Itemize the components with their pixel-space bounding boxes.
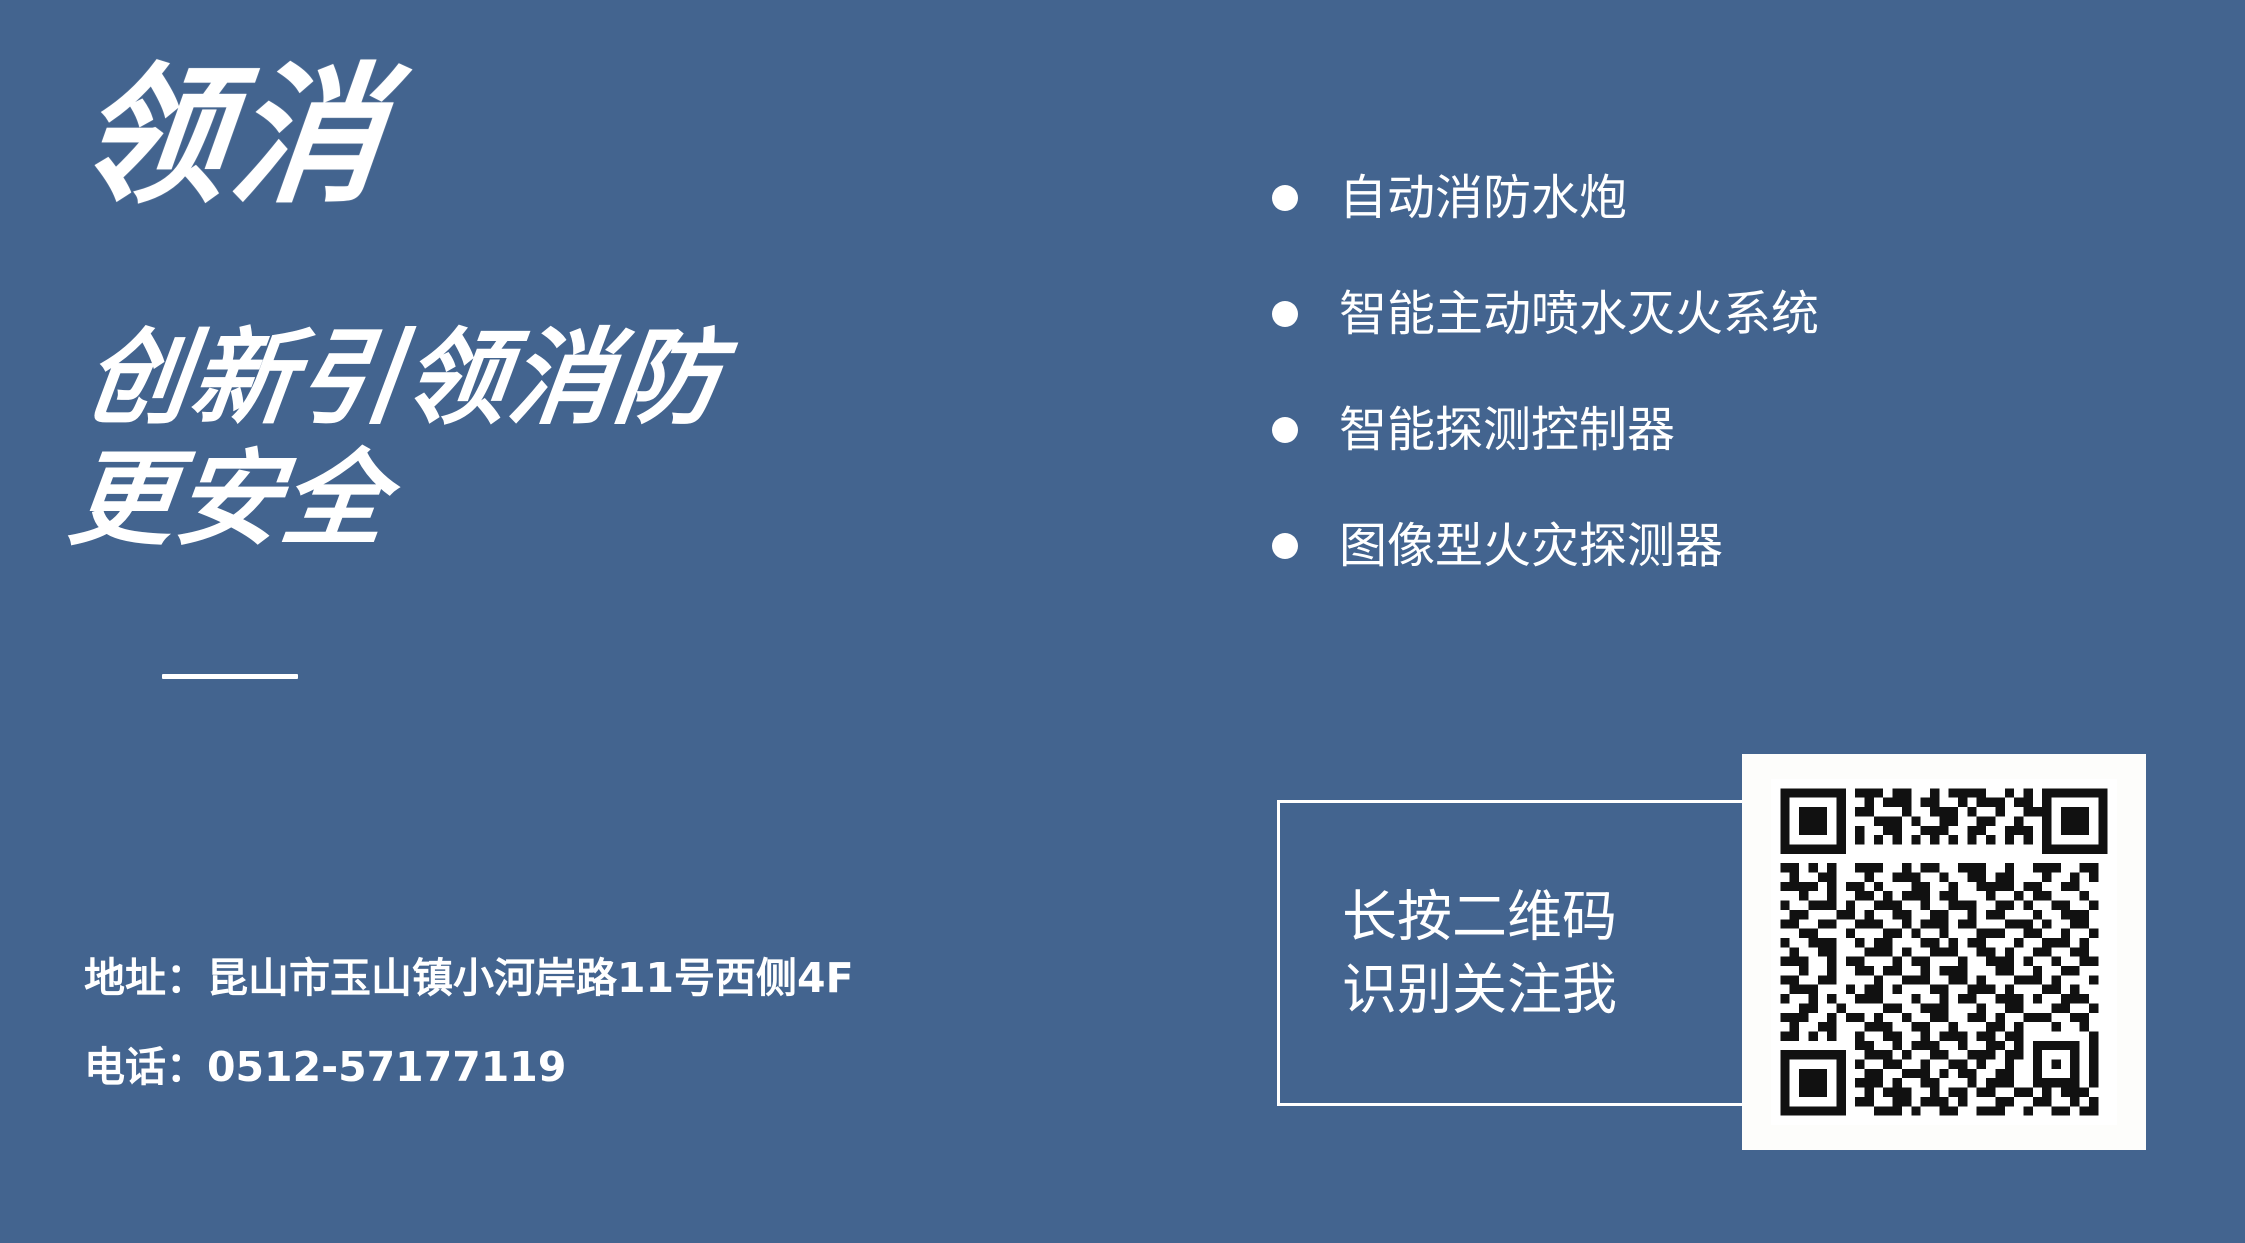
promo-poster: 领消 创新引领消防 更安全 地址：昆山市玉山镇小河岸路11号西侧4F 电话：05… (0, 0, 2245, 1243)
contact-phone: 电话：0512-57177119 (84, 1047, 854, 1088)
feature-label: 智能探测控制器 (1339, 406, 1675, 454)
follow-cta-text: 长按二维码 识别关注我 (1342, 880, 1617, 1025)
cta-line-2: 识别关注我 (1342, 953, 1617, 1026)
list-item: 自动消防水炮 (1272, 140, 1819, 256)
bullet-dot-icon (1272, 301, 1298, 327)
bullet-dot-icon (1272, 417, 1298, 443)
feature-label: 智能主动喷水灭火系统 (1339, 290, 1819, 338)
contact-block: 地址：昆山市玉山镇小河岸路11号西侧4F 电话：0512-57177119 (84, 958, 854, 1088)
tagline-line-2: 更安全 (63, 439, 714, 560)
features-column: 自动消防水炮 智能主动喷水灭火系统 智能探测控制器 图像型火灾探测器 长按二维码… (1272, 0, 2245, 1243)
feature-label: 自动消防水炮 (1339, 174, 1627, 222)
list-item: 智能主动喷水灭火系统 (1272, 256, 1819, 372)
qr-code-panel[interactable] (1742, 754, 2146, 1150)
contact-address: 地址：昆山市玉山镇小河岸路11号西侧4F (84, 958, 854, 999)
qr-code-icon (1771, 779, 2117, 1125)
tagline-line-1: 创新引领消防 (78, 318, 729, 439)
brand-tagline: 创新引领消防 更安全 (63, 318, 729, 559)
brand-logo: 领消 (70, 62, 394, 212)
bullet-dot-icon (1272, 533, 1298, 559)
bullet-dot-icon (1272, 185, 1298, 211)
tagline-divider (162, 674, 298, 679)
cta-line-1: 长按二维码 (1342, 880, 1617, 953)
feature-label: 图像型火灾探测器 (1339, 522, 1723, 570)
feature-list: 自动消防水炮 智能主动喷水灭火系统 智能探测控制器 图像型火灾探测器 (1272, 140, 1819, 604)
brand-column: 领消 创新引领消防 更安全 地址：昆山市玉山镇小河岸路11号西侧4F 电话：05… (78, 0, 1158, 1243)
list-item: 图像型火灾探测器 (1272, 488, 1819, 604)
list-item: 智能探测控制器 (1272, 372, 1819, 488)
